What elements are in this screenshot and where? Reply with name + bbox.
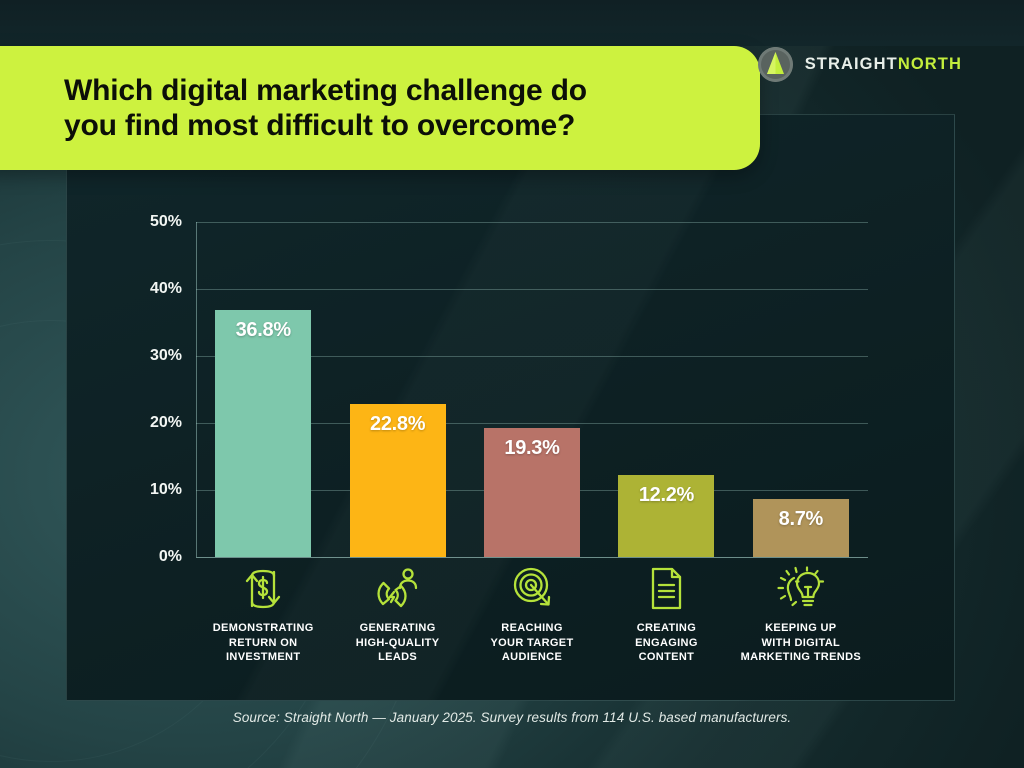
- bar-value-label: 36.8%: [236, 319, 291, 342]
- bar-value-label: 12.2%: [639, 484, 694, 507]
- document-lines-icon: [640, 565, 692, 613]
- category-item: REACHING YOUR TARGET AUDIENCE: [465, 565, 599, 665]
- category-label: GENERATING HIGH-QUALITY LEADS: [356, 621, 440, 665]
- brand-logo[interactable]: STRAIGHTNORTH: [758, 47, 962, 82]
- category-item: DEMONSTRATING RETURN ON INVESTMENT: [196, 565, 330, 665]
- bar[interactable]: 12.2%: [618, 475, 714, 557]
- category-item: GENERATING HIGH-QUALITY LEADS: [330, 565, 464, 665]
- bar-series: 36.8%22.8%19.3%12.2%8.7%: [196, 222, 868, 557]
- bar-value-label: 22.8%: [370, 413, 425, 436]
- bar-slot: 36.8%: [196, 222, 330, 557]
- roi-cycle-dollar-icon: [237, 565, 289, 613]
- bar[interactable]: 8.7%: [753, 499, 849, 557]
- brand-word-north: NORTH: [898, 55, 962, 73]
- page-title: Which digital marketing challenge do you…: [0, 73, 621, 143]
- category-label: KEEPING UP WITH DIGITAL MARKETING TRENDS: [741, 621, 862, 665]
- bar-slot: 19.3%: [465, 222, 599, 557]
- magnet-lead-person-icon: [372, 565, 424, 613]
- gridline: [196, 557, 868, 558]
- target-arrow-icon: [506, 565, 558, 613]
- straight-north-compass-icon: [758, 47, 793, 82]
- bar[interactable]: 22.8%: [350, 404, 446, 557]
- bar[interactable]: 36.8%: [215, 310, 311, 557]
- top-band: [0, 0, 1024, 46]
- y-axis-tick-label: 0%: [159, 548, 182, 566]
- bar-slot: 8.7%: [734, 222, 868, 557]
- y-axis-tick-label: 10%: [150, 481, 182, 499]
- headline-banner: Which digital marketing challenge do you…: [0, 46, 760, 170]
- category-item: CREATING ENGAGING CONTENT: [599, 565, 733, 665]
- gear-lightbulb-icon: [775, 565, 827, 613]
- y-axis-tick-label: 30%: [150, 347, 182, 365]
- category-item: KEEPING UP WITH DIGITAL MARKETING TRENDS: [734, 565, 868, 665]
- bar[interactable]: 19.3%: [484, 428, 580, 557]
- y-axis-tick-label: 50%: [150, 213, 182, 231]
- category-label: REACHING YOUR TARGET AUDIENCE: [490, 621, 573, 665]
- category-label: CREATING ENGAGING CONTENT: [635, 621, 698, 665]
- source-note: Source: Straight North — January 2025. S…: [0, 710, 1024, 725]
- chart-panel: 0%10%20%30%40%50% 36.8%22.8%19.3%12.2%8.…: [66, 114, 955, 701]
- category-axis: DEMONSTRATING RETURN ON INVESTMENT GENER…: [196, 565, 868, 665]
- plot-area: 0%10%20%30%40%50% 36.8%22.8%19.3%12.2%8.…: [196, 222, 868, 557]
- y-axis-tick-label: 20%: [150, 414, 182, 432]
- bar-slot: 12.2%: [599, 222, 733, 557]
- bar-value-label: 8.7%: [779, 508, 823, 531]
- category-label: DEMONSTRATING RETURN ON INVESTMENT: [213, 621, 314, 665]
- y-axis-tick-label: 40%: [150, 280, 182, 298]
- brand-word-straight: STRAIGHT: [805, 55, 898, 73]
- bar-slot: 22.8%: [330, 222, 464, 557]
- infographic-canvas: Which digital marketing challenge do you…: [0, 0, 1024, 768]
- bar-value-label: 19.3%: [504, 437, 559, 460]
- brand-wordmark: STRAIGHTNORTH: [805, 55, 962, 74]
